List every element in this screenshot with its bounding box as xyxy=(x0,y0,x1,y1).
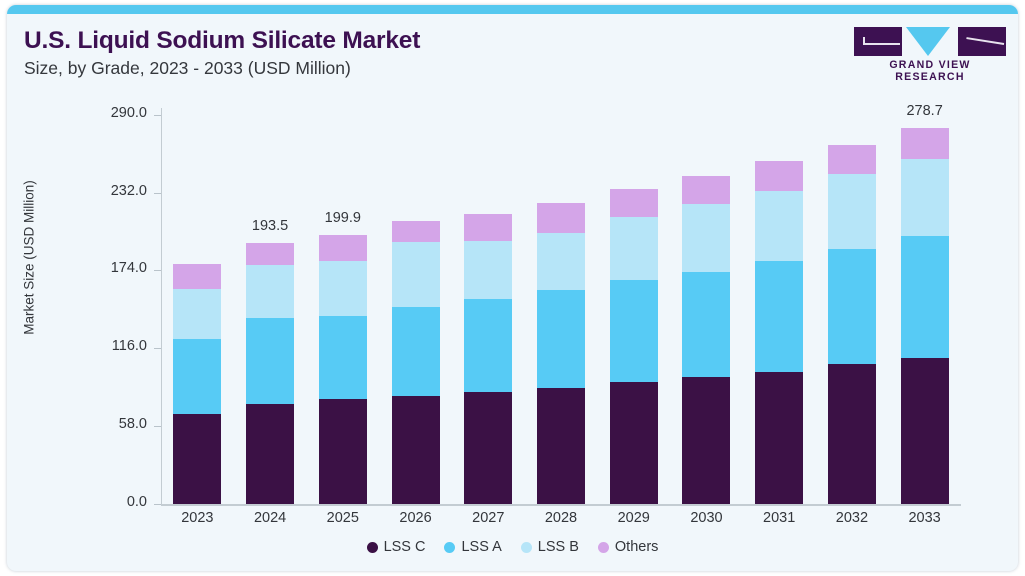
bar-segment-lss-a[interactable] xyxy=(319,316,367,399)
y-axis-tick-label: 174.0 xyxy=(59,260,147,276)
y-axis-tick-mark xyxy=(154,348,161,349)
bar-segment-others[interactable] xyxy=(755,161,803,191)
bar-segment-others[interactable] xyxy=(246,243,294,265)
bar-segment-lss-c[interactable] xyxy=(901,358,949,503)
bar-segment-lss-b[interactable] xyxy=(828,174,876,249)
y-axis-tick-label: 116.0 xyxy=(59,338,147,354)
bar-stack[interactable] xyxy=(173,264,221,504)
legend-swatch-icon xyxy=(444,542,455,553)
y-axis-tick-mark xyxy=(154,270,161,271)
y-axis-tick-mark xyxy=(154,115,161,116)
y-axis-tick-mark xyxy=(154,504,161,505)
x-axis-tick-label: 2027 xyxy=(458,510,518,526)
y-axis-tick-mark xyxy=(154,426,161,427)
bar-segment-lss-a[interactable] xyxy=(464,299,512,391)
bar-segment-others[interactable] xyxy=(537,203,585,233)
bar-segment-lss-c[interactable] xyxy=(610,382,658,504)
x-axis-tick-label: 2025 xyxy=(313,510,373,526)
bar-segment-lss-c[interactable] xyxy=(319,399,367,503)
bar-stack[interactable] xyxy=(901,128,949,504)
bar-segment-lss-a[interactable] xyxy=(828,249,876,364)
bar-segment-lss-b[interactable] xyxy=(246,265,294,318)
bar-segment-lss-a[interactable] xyxy=(537,290,585,388)
bar-segment-others[interactable] xyxy=(901,128,949,160)
bar-stack[interactable] xyxy=(246,243,294,503)
bar-segment-lss-b[interactable] xyxy=(319,261,367,316)
bar-stack[interactable] xyxy=(610,189,658,504)
legend-item-lss-c[interactable]: LSS C xyxy=(367,539,426,555)
bar-stack[interactable] xyxy=(537,203,585,504)
bar-stack[interactable] xyxy=(828,145,876,504)
bar-segment-lss-a[interactable] xyxy=(901,236,949,359)
bar-stack[interactable] xyxy=(682,176,730,504)
bar-segment-lss-b[interactable] xyxy=(392,242,440,307)
bar-segment-lss-b[interactable] xyxy=(537,233,585,290)
x-axis-tick-label: 2032 xyxy=(822,510,882,526)
bar-value-label: 199.9 xyxy=(308,210,378,226)
y-axis-title: Market Size (USD Million) xyxy=(22,128,37,388)
y-axis-tick-label: 58.0 xyxy=(59,416,147,432)
bar-segment-lss-b[interactable] xyxy=(610,217,658,280)
bar-segment-lss-c[interactable] xyxy=(464,392,512,504)
bar-segment-lss-b[interactable] xyxy=(755,191,803,261)
bar-segment-lss-a[interactable] xyxy=(173,339,221,414)
bar-segment-others[interactable] xyxy=(392,221,440,242)
bar-segment-lss-a[interactable] xyxy=(682,272,730,377)
bar-segment-lss-b[interactable] xyxy=(464,241,512,300)
chart-card: U.S. Liquid Sodium Silicate Market Size,… xyxy=(7,5,1018,571)
bar-segment-lss-c[interactable] xyxy=(828,364,876,503)
y-axis-line xyxy=(161,108,162,504)
chart-legend: LSS CLSS ALSS BOthers xyxy=(7,539,1018,555)
bar-segment-lss-c[interactable] xyxy=(246,404,294,503)
y-axis-tick-mark xyxy=(154,193,161,194)
bar-segment-others[interactable] xyxy=(828,145,876,174)
x-axis-tick-label: 2033 xyxy=(895,510,955,526)
bar-segment-lss-c[interactable] xyxy=(682,377,730,504)
legend-item-lss-a[interactable]: LSS A xyxy=(444,539,501,555)
bar-stack[interactable] xyxy=(392,221,440,504)
bar-segment-lss-c[interactable] xyxy=(392,396,440,504)
bar-segment-others[interactable] xyxy=(682,176,730,204)
x-axis-tick-label: 2030 xyxy=(676,510,736,526)
x-axis-line xyxy=(161,504,961,506)
legend-item-lss-b[interactable]: LSS B xyxy=(521,539,579,555)
x-axis-tick-label: 2029 xyxy=(604,510,664,526)
bar-stack[interactable] xyxy=(755,161,803,504)
bar-segment-others[interactable] xyxy=(319,235,367,261)
x-axis-tick-label: 2023 xyxy=(167,510,227,526)
x-axis-tick-label: 2031 xyxy=(749,510,809,526)
bar-segment-lss-c[interactable] xyxy=(173,414,221,503)
x-axis-tick-label: 2028 xyxy=(531,510,591,526)
bar-segment-lss-c[interactable] xyxy=(755,372,803,504)
legend-swatch-icon xyxy=(598,542,609,553)
y-axis-tick-label: 0.0 xyxy=(59,494,147,510)
bar-segment-others[interactable] xyxy=(610,189,658,217)
bar-value-label: 278.7 xyxy=(890,103,960,119)
bar-segment-lss-c[interactable] xyxy=(537,388,585,504)
bar-segment-lss-b[interactable] xyxy=(901,159,949,235)
bar-segment-lss-b[interactable] xyxy=(173,289,221,339)
y-axis-tick-label: 290.0 xyxy=(59,105,147,121)
bar-segment-others[interactable] xyxy=(464,214,512,240)
legend-label: Others xyxy=(615,539,659,555)
legend-item-others[interactable]: Others xyxy=(598,539,659,555)
bar-segment-others[interactable] xyxy=(173,264,221,290)
legend-swatch-icon xyxy=(521,542,532,553)
bar-segment-lss-a[interactable] xyxy=(755,261,803,372)
bar-stack[interactable] xyxy=(464,214,512,504)
chart-plot-area: Market Size (USD Million) 0.058.0116.017… xyxy=(7,5,1018,571)
bar-value-label: 193.5 xyxy=(235,218,305,234)
x-axis-tick-label: 2024 xyxy=(240,510,300,526)
bar-segment-lss-a[interactable] xyxy=(392,307,440,396)
x-axis-tick-label: 2026 xyxy=(386,510,446,526)
legend-label: LSS A xyxy=(461,539,501,555)
bar-segment-lss-a[interactable] xyxy=(246,318,294,404)
legend-label: LSS B xyxy=(538,539,579,555)
legend-label: LSS C xyxy=(384,539,426,555)
bar-segment-lss-b[interactable] xyxy=(682,204,730,272)
bar-segment-lss-a[interactable] xyxy=(610,280,658,382)
bar-stack[interactable] xyxy=(319,235,367,504)
legend-swatch-icon xyxy=(367,542,378,553)
y-axis-tick-label: 232.0 xyxy=(59,183,147,199)
